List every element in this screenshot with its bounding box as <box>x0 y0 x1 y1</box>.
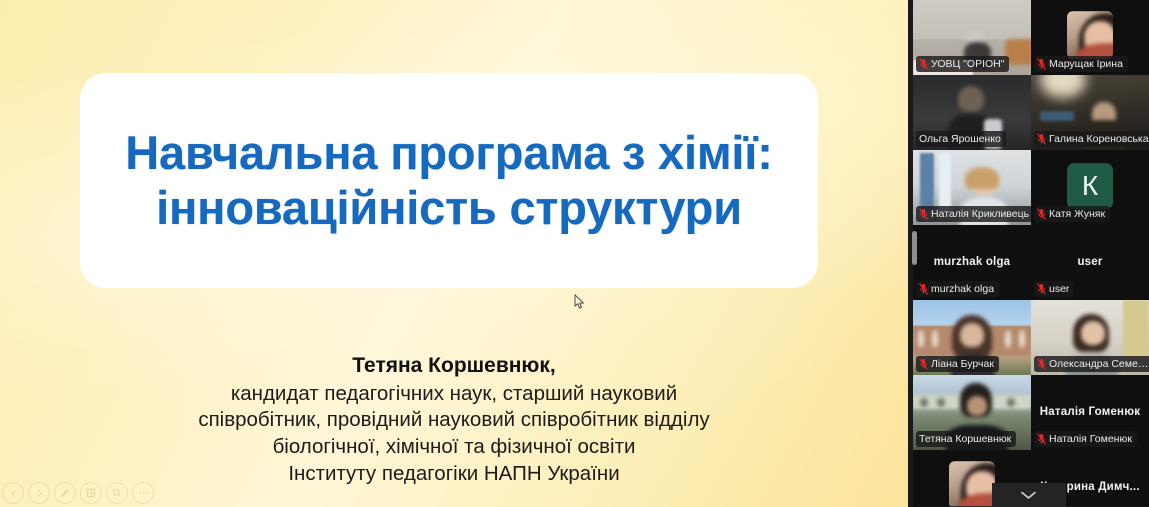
participant-tile-grid: УОВЦ "ОРІОН" Марущак Ірина Ольга Яр <box>913 0 1149 507</box>
participant-tile[interactable]: Тетяна Коршевнюк <box>913 375 1031 450</box>
participant-tile[interactable]: Наталія Крикливець <box>913 150 1031 225</box>
pen-annotation-icon[interactable] <box>54 482 76 504</box>
muted-microphone-icon <box>1037 133 1046 145</box>
participant-name-label: Олександра Семерик <box>1034 356 1149 372</box>
avatar <box>949 461 995 507</box>
chevron-down-icon <box>1020 490 1037 500</box>
participant-tile[interactable]: Галина Кореновська <box>1031 75 1149 150</box>
slide-title-card: Навчальна програма з хімії: інноваційніс… <box>80 73 818 288</box>
slide-speaker-block: Тетяна Коршевнюк, кандидат педагогічних … <box>0 352 908 487</box>
participant-tile[interactable]: УОВЦ "ОРІОН" <box>913 0 1031 75</box>
mouse-cursor <box>574 294 586 310</box>
participant-name-label: Ольга Ярошенко <box>916 131 1006 147</box>
muted-microphone-icon <box>1037 433 1046 445</box>
participant-tile[interactable]: Наталія Гоменюк Наталія Гоменюк <box>1031 375 1149 450</box>
speaker-description: кандидат педагогічних наук, старший наук… <box>0 381 908 488</box>
participant-tile[interactable]: Ліана Бурчак <box>913 300 1031 375</box>
muted-microphone-icon <box>1037 208 1046 220</box>
participant-name-label: Наталія Крикливець <box>916 206 1031 222</box>
participant-display-name: Наталія Гоменюк <box>1031 405 1149 417</box>
zoom-in-icon[interactable] <box>106 482 128 504</box>
participant-name-label: Ліана Бурчак <box>916 356 999 372</box>
slide-title: Навчальна програма з хімії: інноваційніс… <box>107 126 790 235</box>
participant-name-label: Тетяна Коршевнюк <box>916 431 1016 447</box>
participants-scrollbar[interactable] <box>912 231 917 265</box>
participant-name-text: Наталія Гоменюк <box>1049 432 1132 446</box>
participant-name-label: Марущак Ірина <box>1034 56 1128 72</box>
muted-microphone-icon <box>1037 283 1046 295</box>
muted-microphone-icon <box>919 58 928 70</box>
zoom-participants-panel[interactable]: УОВЦ "ОРІОН" Марущак Ірина Ольга Яр <box>908 0 1149 507</box>
participant-tile[interactable]: Олександра Семерик <box>1031 300 1149 375</box>
participant-name-text: murzhak olga <box>931 282 994 296</box>
participant-name-text: Галина Кореновська <box>1049 132 1149 146</box>
muted-microphone-icon <box>919 283 928 295</box>
participant-tile[interactable]: К Катя Жуняк <box>1031 150 1149 225</box>
participant-tile[interactable]: Ольга Ярошенко <box>913 75 1031 150</box>
presentation-slide[interactable]: Навчальна програма з хімії: інноваційніс… <box>0 0 908 507</box>
previous-slide-icon[interactable] <box>2 482 24 504</box>
more-options-icon[interactable] <box>132 482 154 504</box>
participant-name-label: Наталія Гоменюк <box>1034 431 1137 447</box>
participant-tile[interactable]: user user <box>1031 225 1149 300</box>
muted-microphone-icon <box>1037 58 1046 70</box>
participant-name-label: user <box>1034 281 1074 297</box>
participant-name-text: Ольга Ярошенко <box>919 132 1001 146</box>
participant-name-text: Олександра Семерик <box>1049 357 1149 371</box>
participant-name-label: Галина Кореновська <box>1034 131 1149 147</box>
participant-name-text: Ліана Бурчак <box>931 357 994 371</box>
participant-name-text: user <box>1049 282 1069 296</box>
participant-name-label: murzhak olga <box>916 281 999 297</box>
next-slide-icon[interactable] <box>28 482 50 504</box>
participant-display-name: user <box>1031 255 1149 267</box>
participant-name-text: УОВЦ "ОРІОН" <box>931 57 1004 71</box>
avatar <box>1067 11 1113 59</box>
participant-name-label: УОВЦ "ОРІОН" <box>916 56 1009 72</box>
participant-name-text: Наталія Крикливець <box>931 207 1029 221</box>
avatar: К <box>1067 163 1113 209</box>
participant-tile[interactable]: Марущак Ірина <box>1031 0 1149 75</box>
zoom-screenshare-window: Навчальна програма з хімії: інноваційніс… <box>0 0 1149 507</box>
participant-name-text: Марущак Ірина <box>1049 57 1123 71</box>
muted-microphone-icon <box>919 358 928 370</box>
participant-name-text: Тетяна Коршевнюк <box>919 432 1011 446</box>
slide-overview-icon[interactable] <box>80 482 102 504</box>
muted-microphone-icon <box>1037 358 1046 370</box>
speaker-name: Тетяна Коршевнюк, <box>0 352 908 380</box>
participant-name-text: Катя Жуняк <box>1049 207 1105 221</box>
scroll-down-button[interactable] <box>992 483 1066 507</box>
participant-display-name: murzhak olga <box>913 255 1031 267</box>
muted-microphone-icon <box>919 208 928 220</box>
participant-tile[interactable]: murzhak olga murzhak olga <box>913 225 1031 300</box>
participant-name-label: Катя Жуняк <box>1034 206 1110 222</box>
presenter-toolbar[interactable] <box>2 482 154 504</box>
